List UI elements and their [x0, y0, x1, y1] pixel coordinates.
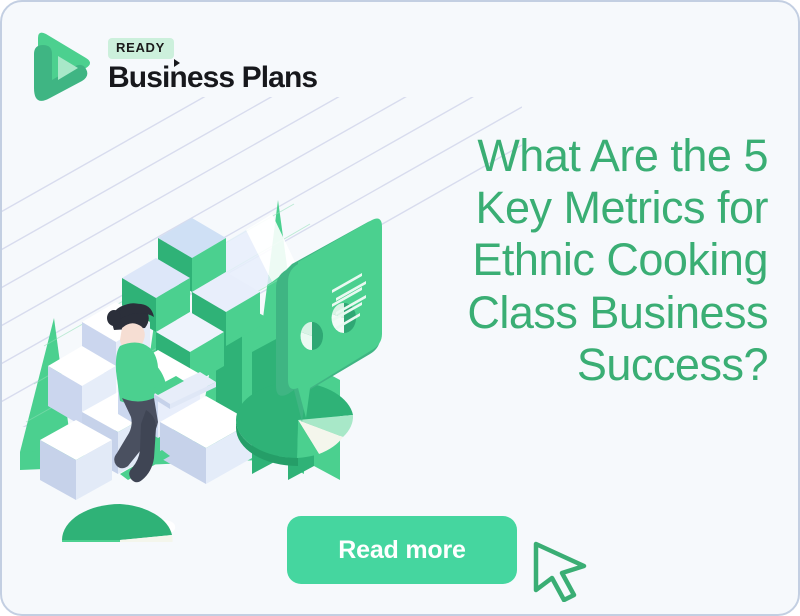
headline: What Are the 5 Key Metrics for Ethnic Co… [348, 130, 768, 391]
mouse-pointer-arrow-icon [530, 538, 592, 602]
headline-line-5: Success? [348, 339, 768, 391]
brand-name-text: Business Plans [108, 61, 317, 94]
promo-banner: READY Business Plans What Are the 5 Key … [0, 0, 800, 616]
read-more-button[interactable]: Read more [287, 516, 517, 584]
pie-chart-small [62, 504, 173, 542]
brand-logo[interactable]: READY Business Plans [26, 28, 317, 104]
brand-name: Business Plans [108, 62, 317, 94]
ready-badge: READY [108, 38, 174, 59]
play-triangle-accent-icon [174, 59, 180, 67]
headline-line-2: Key Metrics for [348, 182, 768, 234]
headline-line-3: Ethnic Cooking [348, 234, 768, 286]
headline-line-1: What Are the 5 [348, 130, 768, 182]
headline-line-4: Class Business [348, 287, 768, 339]
play-button-logo-icon [26, 28, 94, 104]
